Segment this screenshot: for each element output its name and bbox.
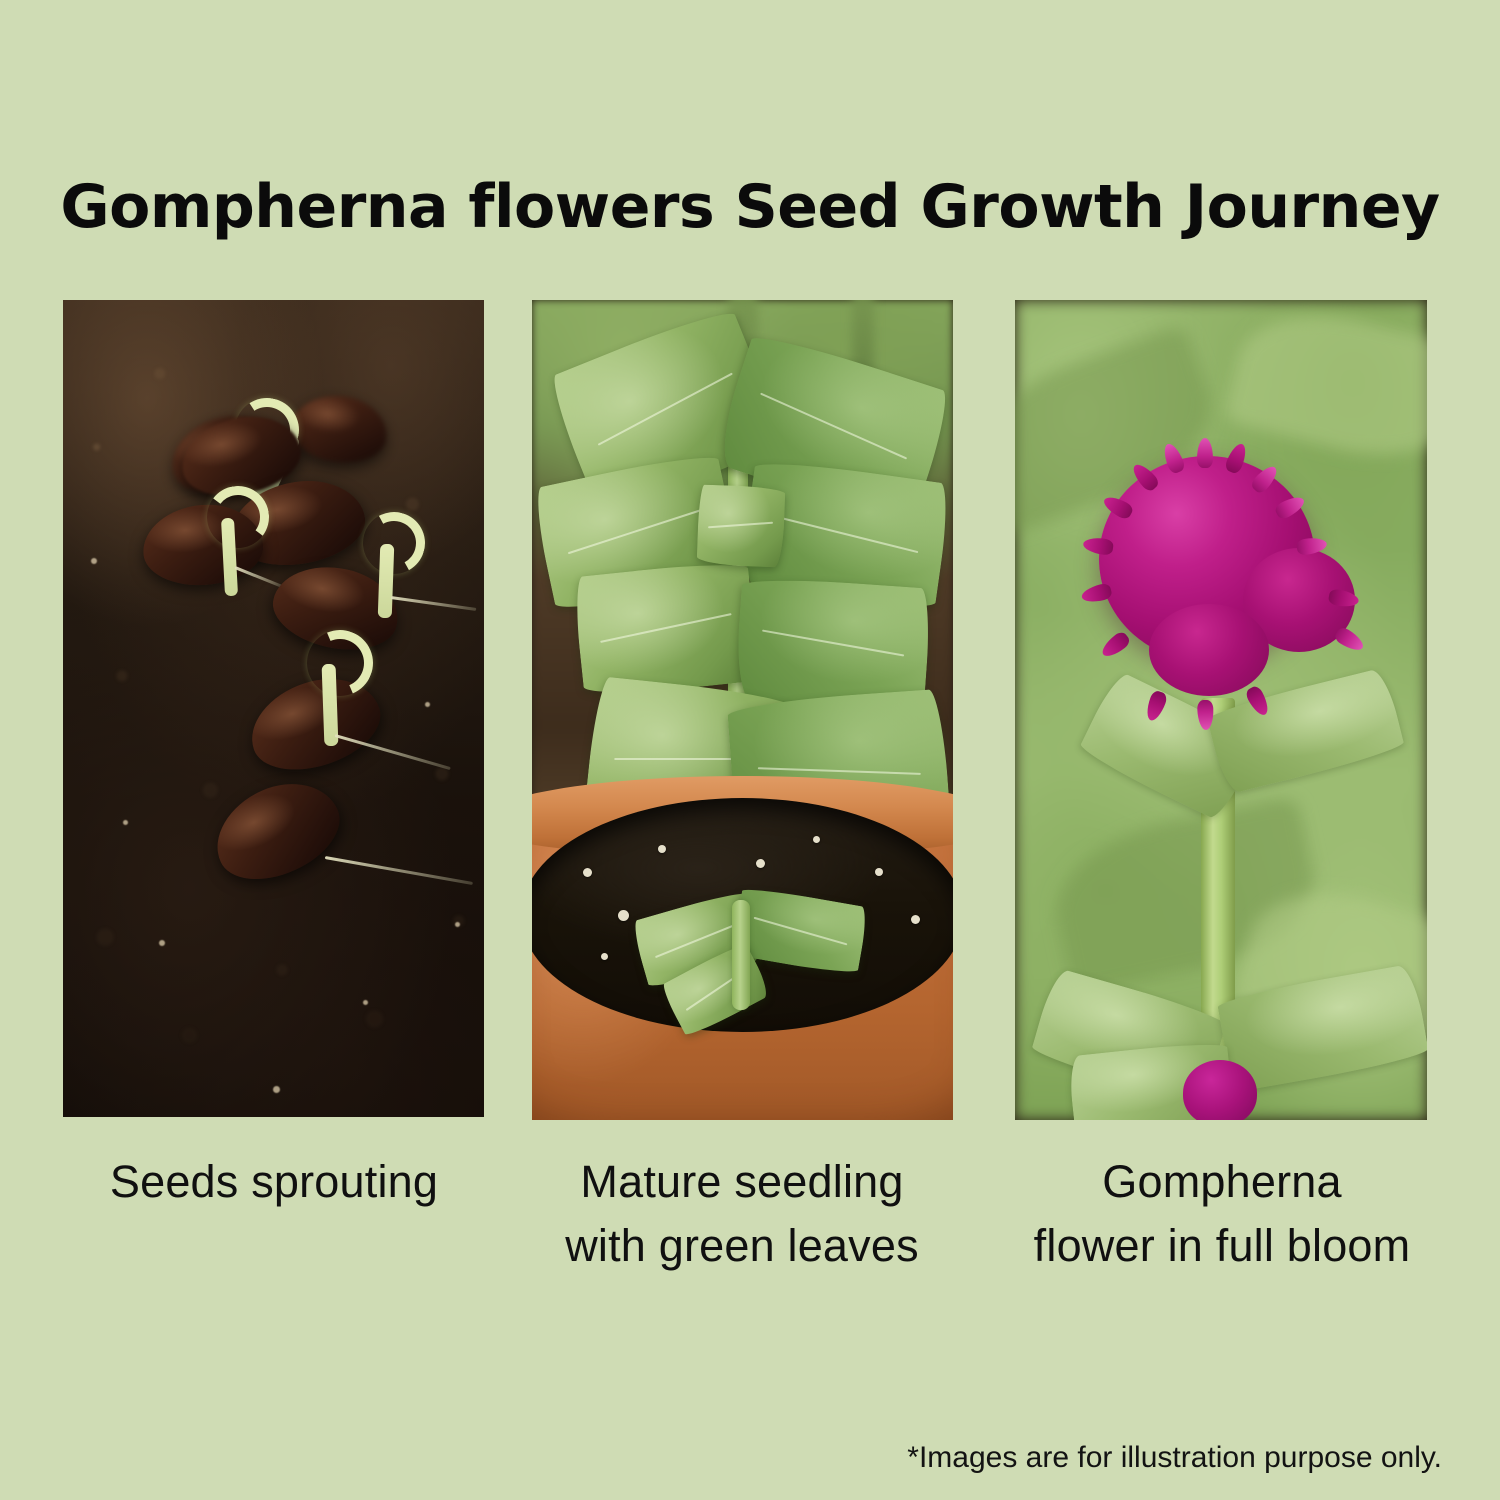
- perlite-granule: [601, 953, 608, 960]
- potted-seedling-scene: [532, 300, 953, 1120]
- perlite-granule: [658, 845, 666, 853]
- perlite-granule: [911, 915, 920, 924]
- soil-speck: [363, 1000, 368, 1005]
- caption-line: with green leaves: [508, 1214, 976, 1278]
- soil-speck: [425, 702, 430, 707]
- caption-line: Mature seedling: [508, 1150, 976, 1214]
- seedling-lower-stem: [732, 900, 750, 1010]
- soil-speck: [123, 820, 128, 825]
- stage-caption-seedling: Mature seedling with green leaves: [508, 1150, 976, 1278]
- stage-image-seeds-sprouting: [63, 300, 484, 1117]
- caption-line: Seeds sprouting: [40, 1150, 508, 1214]
- flower-bud: [1183, 1060, 1257, 1120]
- infographic-page: Gompherna flowers Seed Growth Journey: [0, 0, 1500, 1500]
- caption-line: flower in full bloom: [988, 1214, 1456, 1278]
- sprout-hook: [297, 620, 383, 706]
- soil-speck: [455, 922, 460, 927]
- seedling-growing-tip: [697, 485, 786, 568]
- flower-petal: [1098, 630, 1131, 661]
- disclaimer-text: *Images are for illustration purpose onl…: [907, 1441, 1442, 1475]
- flower-globe-lobe: [1149, 604, 1269, 696]
- perlite-granule: [583, 868, 592, 877]
- caption-line: Gompherna: [988, 1150, 1456, 1214]
- sprout-hook: [356, 505, 433, 582]
- stage-caption-bloom: Gompherna flower in full bloom: [988, 1150, 1456, 1278]
- sprout-hook: [203, 482, 273, 552]
- seed-sprout-group: [301, 630, 431, 790]
- seed-soil-scene: [63, 300, 484, 1117]
- perlite-granule: [618, 910, 629, 921]
- stage-image-flower-bloom: [1015, 300, 1427, 1120]
- page-title: Gompherna flowers Seed Growth Journey: [0, 172, 1500, 242]
- seedling-root: [391, 596, 477, 611]
- soil-speck: [159, 940, 165, 946]
- perlite-granule: [813, 836, 820, 843]
- soil-speck: [273, 1086, 280, 1093]
- gomphrena-bloom-scene: [1015, 300, 1427, 1120]
- seedling-root: [234, 566, 283, 588]
- soil-speck: [91, 558, 97, 564]
- sprout-stem: [378, 544, 395, 618]
- perlite-granule: [875, 868, 883, 876]
- flower-head: [1093, 456, 1357, 706]
- stage-image-mature-seedling: [532, 300, 953, 1120]
- stage-caption-seeds: Seeds sprouting: [40, 1150, 508, 1214]
- seedling-leaf: [572, 559, 760, 699]
- perlite-granule: [756, 859, 765, 868]
